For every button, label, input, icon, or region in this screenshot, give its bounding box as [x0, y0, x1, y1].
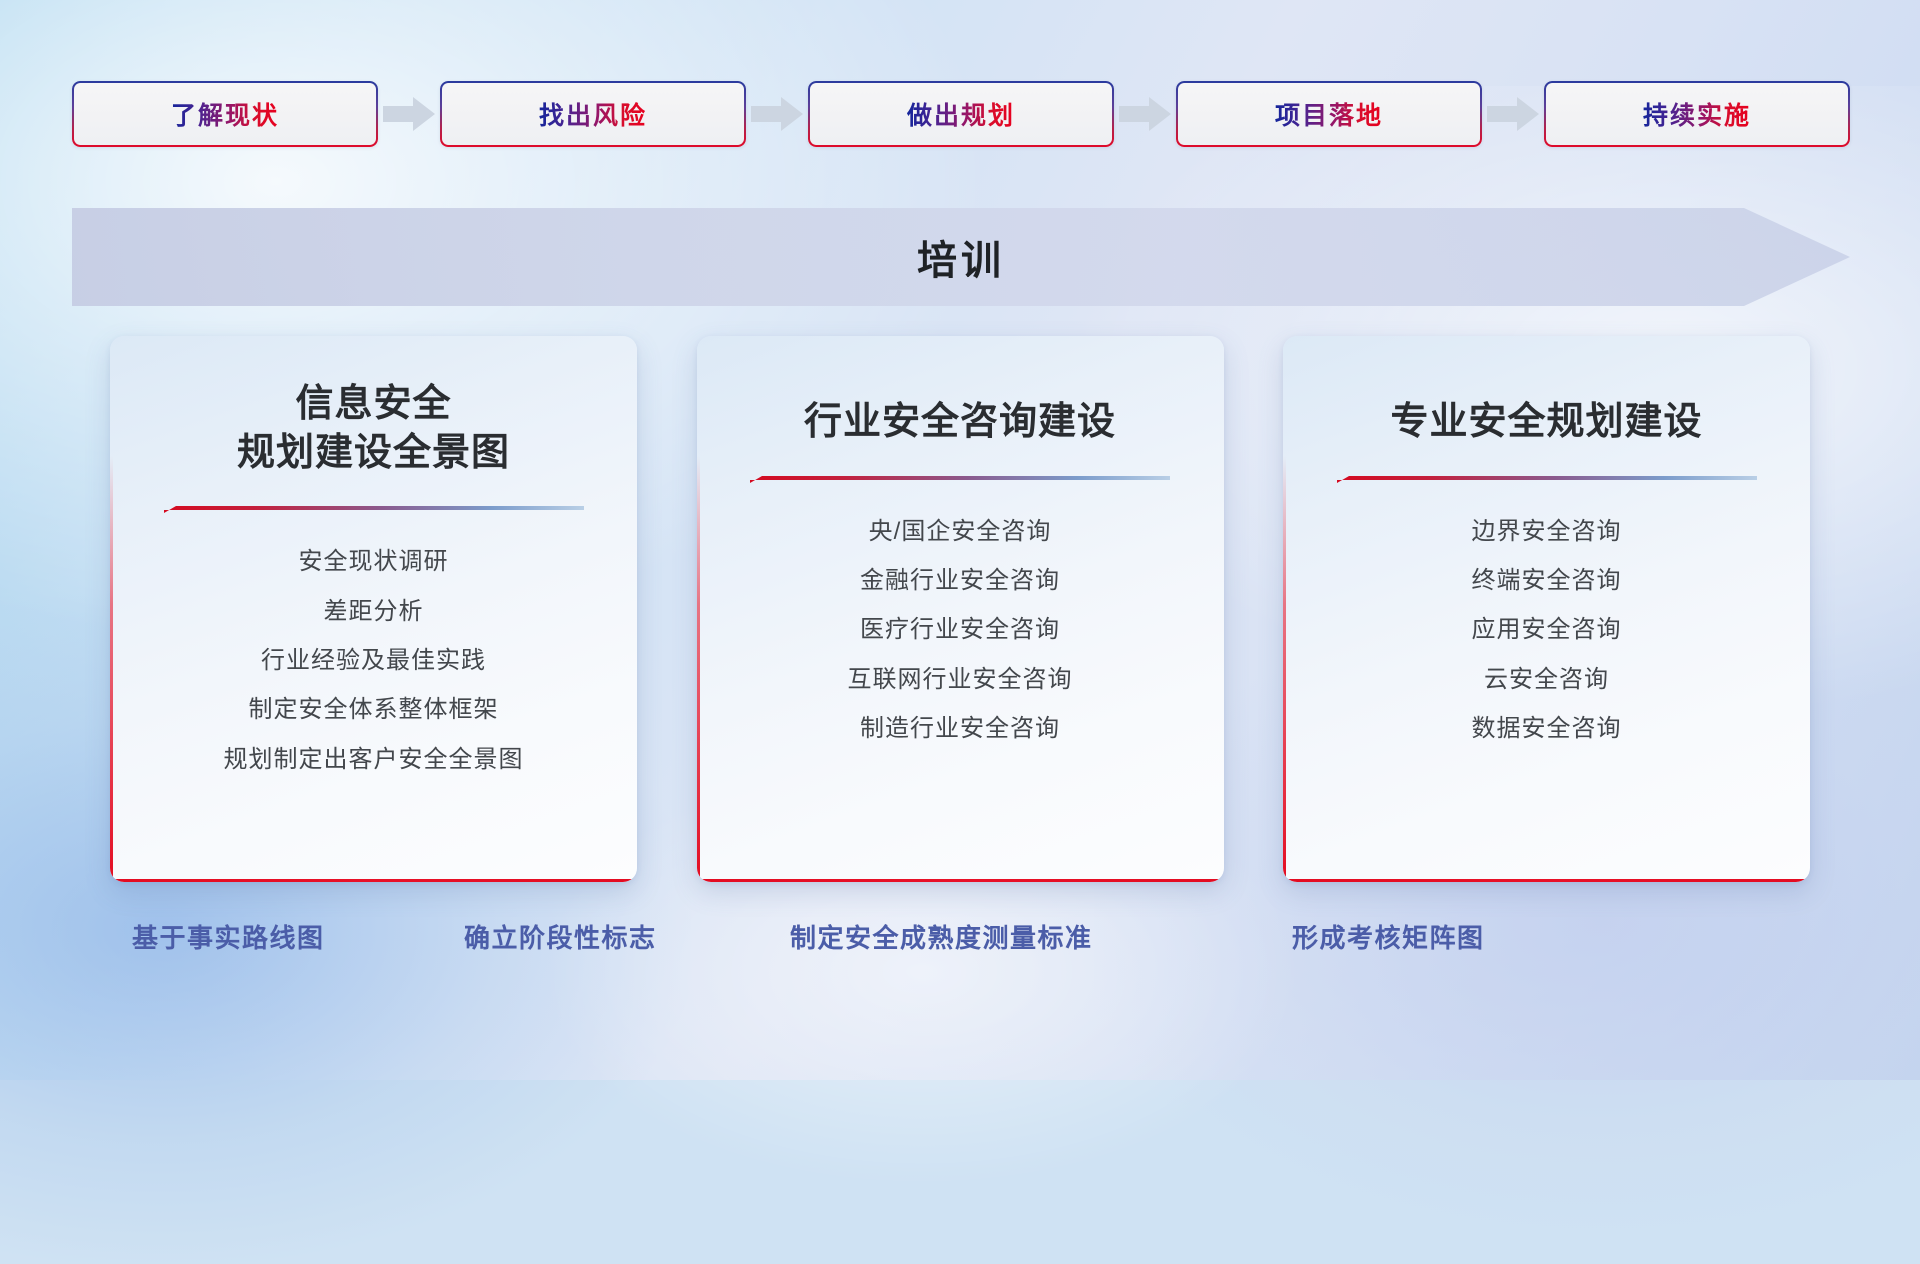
caption-maturity-scale: 制定安全成熟度测量标准 — [790, 918, 1093, 955]
step-box-3[interactable]: 做出规划 — [808, 81, 1114, 147]
step-box-5[interactable]: 持续实施 — [1544, 81, 1850, 147]
step-label-4: 项目落地 — [1275, 96, 1383, 132]
list-item: 医疗行业安全咨询 — [860, 611, 1060, 649]
caption-row: 基于事实路线图 确立阶段性标志 制定安全成熟度测量标准 形成考核矩阵图 — [0, 918, 1920, 974]
card-title-1: 信息安全 规划建设全景图 — [237, 380, 510, 477]
caption-matrix: 形成考核矩阵图 — [1292, 918, 1485, 955]
step-arrow-2 — [746, 97, 808, 131]
list-item: 云安全咨询 — [1484, 661, 1609, 699]
slide-stage: 了解现状 找出风险 做出规划 项目落地 — [0, 0, 1920, 1080]
card-list-2: 央/国企安全咨询 金融行业安全咨询 医疗行业安全咨询 互联网行业安全咨询 制造行… — [697, 513, 1224, 749]
card-list-1: 安全现状调研 差距分析 行业经验及最佳实践 制定安全体系整体框架 规划制定出客户… — [110, 543, 637, 779]
list-item: 制造行业安全咨询 — [860, 710, 1060, 748]
banner-title: 培训 — [72, 208, 1850, 306]
step-label-1: 了解现状 — [171, 96, 279, 132]
card-divider-1 — [164, 503, 584, 517]
list-item: 边界安全咨询 — [1472, 513, 1622, 551]
card-title-3: 专业安全规划建设 — [1390, 398, 1702, 447]
card-title-2: 行业安全咨询建设 — [804, 398, 1116, 447]
step-box-2[interactable]: 找出风险 — [440, 81, 746, 147]
list-item: 互联网行业安全咨询 — [848, 661, 1073, 699]
card-divider-2 — [750, 473, 1170, 487]
card-information-security-blueprint[interactable]: 信息安全 规划建设全景图 — [110, 336, 637, 882]
step-label-2: 找出风险 — [539, 96, 647, 132]
card-divider-3 — [1337, 473, 1757, 487]
training-banner: 培训 — [72, 208, 1850, 306]
step-arrow-4 — [1482, 97, 1544, 131]
step-box-1[interactable]: 了解现状 — [72, 81, 378, 147]
step-box-4[interactable]: 项目落地 — [1176, 81, 1482, 147]
list-item: 安全现状调研 — [299, 543, 449, 581]
list-item: 行业经验及最佳实践 — [261, 642, 486, 680]
caption-roadmap: 基于事实路线图 — [132, 918, 325, 955]
card-list-3: 边界安全咨询 终端安全咨询 应用安全咨询 云安全咨询 数据安全咨询 — [1283, 513, 1810, 749]
list-item: 央/国企安全咨询 — [869, 513, 1052, 551]
list-item: 制定安全体系整体框架 — [249, 691, 499, 729]
list-item: 终端安全咨询 — [1472, 562, 1622, 600]
card-industry-security-consulting[interactable]: 行业安全咨询建设 — [697, 336, 1224, 882]
list-item: 规划制定出客户安全全景图 — [224, 741, 524, 779]
list-item: 金融行业安全咨询 — [860, 562, 1060, 600]
list-item: 应用安全咨询 — [1472, 611, 1622, 649]
process-step-row: 了解现状 找出风险 做出规划 项目落地 — [72, 80, 1850, 148]
step-label-5: 持续实施 — [1643, 96, 1751, 132]
caption-milestones: 确立阶段性标志 — [464, 918, 657, 955]
step-arrow-3 — [1114, 97, 1176, 131]
step-arrow-1 — [378, 97, 440, 131]
step-label-3: 做出规划 — [907, 96, 1015, 132]
card-row: 信息安全 规划建设全景图 — [110, 336, 1810, 882]
card-professional-security-planning[interactable]: 专业安全规划建设 — [1283, 336, 1810, 882]
list-item: 数据安全咨询 — [1472, 710, 1622, 748]
list-item: 差距分析 — [324, 593, 424, 631]
